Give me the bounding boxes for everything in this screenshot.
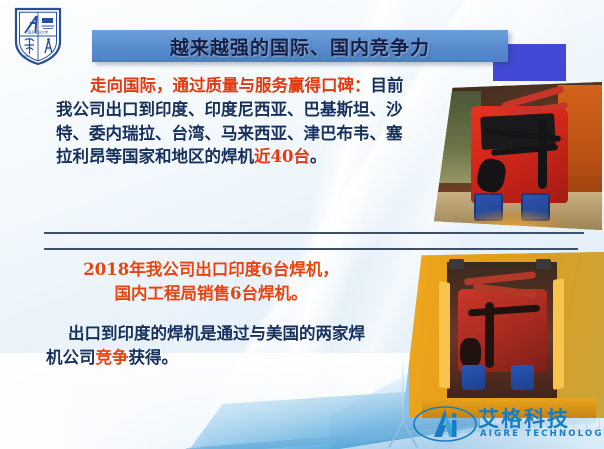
photo-top-sparks bbox=[471, 208, 575, 230]
photo-bottom-lamp-right bbox=[536, 259, 551, 269]
paragraph-international-markets: 走向国际，通过质量与服务赢得口碑：目前我公司出口到印度、印度尼西亚、巴基斯坦、沙… bbox=[56, 74, 408, 169]
company-name-en: AIGRE TECHNOLOGY bbox=[480, 429, 604, 439]
photo-bottom-lamp-left bbox=[449, 259, 464, 269]
paragraph-3-tail: 获得。 bbox=[129, 348, 179, 367]
paragraph-2-line-2: 国内工程局销售6台焊机。 bbox=[60, 282, 362, 306]
paragraph-2018-exports: 2018年我公司出口印度6台焊机， 国内工程局销售6台焊机。 bbox=[60, 258, 362, 306]
section-divider-upper bbox=[44, 232, 584, 234]
aigre-a-mark-icon bbox=[412, 404, 478, 444]
svg-text:南京工业大学: 南京工业大学 bbox=[28, 30, 49, 35]
paragraph-india-competition: 出口到印度的焊机是通过与美国的两家焊机公司竞争获得。 bbox=[46, 322, 368, 370]
photo-bottom-blue-module-right bbox=[511, 365, 534, 390]
photo-red-welding-machine bbox=[434, 82, 602, 230]
paragraph-1-tail: 。 bbox=[310, 147, 327, 166]
slide-canvas: 南京工业大学 1902 越来越强的国际、国内竞争力 bbox=[0, 0, 604, 449]
photo-bottom-hose-2 bbox=[485, 302, 493, 368]
paragraph-2-line-1: 2018年我公司出口印度6台焊机， bbox=[60, 258, 362, 282]
photo-yellow-machine-housing bbox=[392, 252, 604, 418]
photo-bottom-rail-left bbox=[439, 281, 450, 389]
photo-top-hose-3 bbox=[538, 118, 546, 189]
photo-bottom-hose-coil bbox=[460, 338, 481, 368]
photo-bottom-rail-right bbox=[553, 278, 564, 389]
company-logo: 艾格科技 AIGRE TECHNOLOGY bbox=[412, 404, 596, 446]
page-title: 越来越强的国际、国内竞争力 bbox=[92, 30, 508, 62]
section-divider-lower bbox=[44, 248, 578, 250]
photo-bottom-blue-module-left bbox=[462, 365, 485, 390]
paragraph-3-highlight: 竞争 bbox=[96, 348, 129, 367]
slide-title-bar: 越来越强的国际、国内竞争力 bbox=[92, 30, 508, 62]
paragraph-3-body: 出口到印度的焊机是通过与美国的两家焊机公司 bbox=[46, 324, 365, 367]
paragraph-1-lead: 走向国际，通过质量与服务赢得口碑： bbox=[90, 76, 371, 95]
svg-text:1902: 1902 bbox=[23, 54, 30, 58]
university-shield-logo-icon: 南京工业大学 1902 bbox=[12, 6, 64, 66]
paragraph-1-highlight: 近40台 bbox=[254, 147, 310, 166]
